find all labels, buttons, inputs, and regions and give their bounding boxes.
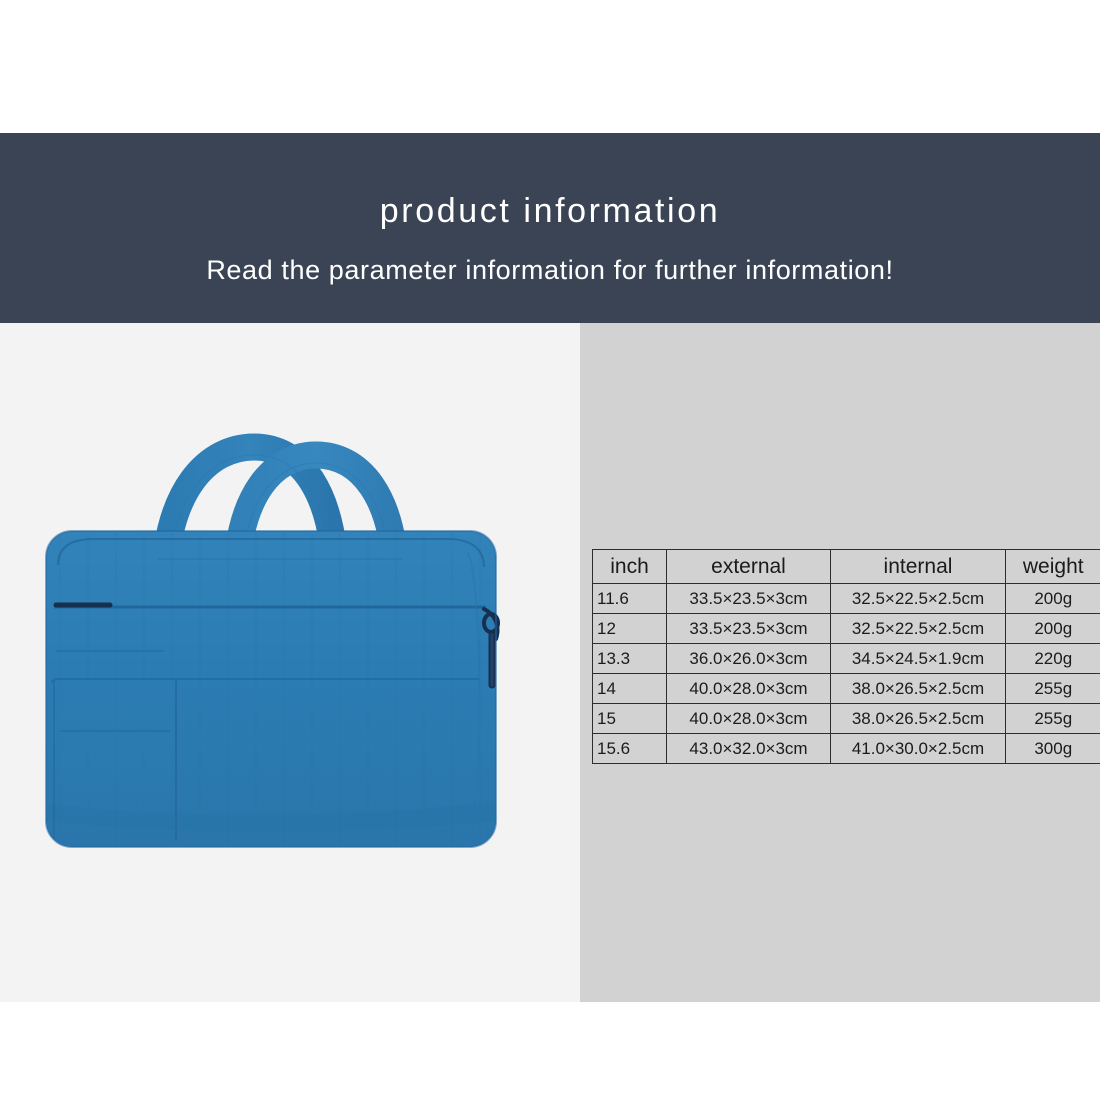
bag-body (46, 531, 498, 853)
cell-external: 40.0×28.0×3cm (667, 704, 831, 734)
spec-panel: inch external internal weight 11.6 33.5×… (580, 323, 1100, 1002)
cell-external: 36.0×26.0×3cm (667, 644, 831, 674)
table-row: 11.6 33.5×23.5×3cm 32.5×22.5×2.5cm 200g (593, 584, 1100, 614)
product-information-page: product information Read the parameter i… (0, 0, 1100, 1100)
content-area: inch external internal weight 11.6 33.5×… (0, 323, 1100, 1002)
cell-inch: 12 (593, 614, 667, 644)
column-header-internal: internal (831, 550, 1006, 584)
cell-external: 33.5×23.5×3cm (667, 614, 831, 644)
cell-inch: 15.6 (593, 734, 667, 764)
cell-internal: 38.0×26.5×2.5cm (831, 704, 1006, 734)
specification-table: inch external internal weight 11.6 33.5×… (592, 549, 1100, 764)
cell-weight: 200g (1006, 584, 1100, 614)
cell-weight: 255g (1006, 704, 1100, 734)
table-row: 14 40.0×28.0×3cm 38.0×26.5×2.5cm 255g (593, 674, 1100, 704)
cell-internal: 32.5×22.5×2.5cm (831, 614, 1006, 644)
cell-external: 43.0×32.0×3cm (667, 734, 831, 764)
table-header-row: inch external internal weight (593, 550, 1100, 584)
cell-internal: 41.0×30.0×2.5cm (831, 734, 1006, 764)
laptop-bag-image (40, 383, 540, 883)
cell-internal: 38.0×26.5×2.5cm (831, 674, 1006, 704)
cell-weight: 220g (1006, 644, 1100, 674)
product-image-panel (0, 323, 580, 1002)
column-header-weight: weight (1006, 550, 1100, 584)
cell-internal: 32.5×22.5×2.5cm (831, 584, 1006, 614)
cell-weight: 255g (1006, 674, 1100, 704)
table-row: 13.3 36.0×26.0×3cm 34.5×24.5×1.9cm 220g (593, 644, 1100, 674)
table-row: 12 33.5×23.5×3cm 32.5×22.5×2.5cm 200g (593, 614, 1100, 644)
page-subtitle: Read the parameter information for furth… (206, 254, 893, 286)
cell-inch: 15 (593, 704, 667, 734)
column-header-external: external (667, 550, 831, 584)
cell-weight: 200g (1006, 614, 1100, 644)
cell-weight: 300g (1006, 734, 1100, 764)
table-row: 15 40.0×28.0×3cm 38.0×26.5×2.5cm 255g (593, 704, 1100, 734)
cell-inch: 11.6 (593, 584, 667, 614)
spec-table-container: inch external internal weight 11.6 33.5×… (592, 549, 1100, 764)
page-title: product information (380, 191, 720, 232)
cell-inch: 14 (593, 674, 667, 704)
header-banner: product information Read the parameter i… (0, 133, 1100, 323)
cell-inch: 13.3 (593, 644, 667, 674)
column-header-inch: inch (593, 550, 667, 584)
table-row: 15.6 43.0×32.0×3cm 41.0×30.0×2.5cm 300g (593, 734, 1100, 764)
cell-internal: 34.5×24.5×1.9cm (831, 644, 1006, 674)
laptop-bag-illustration (40, 383, 540, 883)
cell-external: 40.0×28.0×3cm (667, 674, 831, 704)
cell-external: 33.5×23.5×3cm (667, 584, 831, 614)
